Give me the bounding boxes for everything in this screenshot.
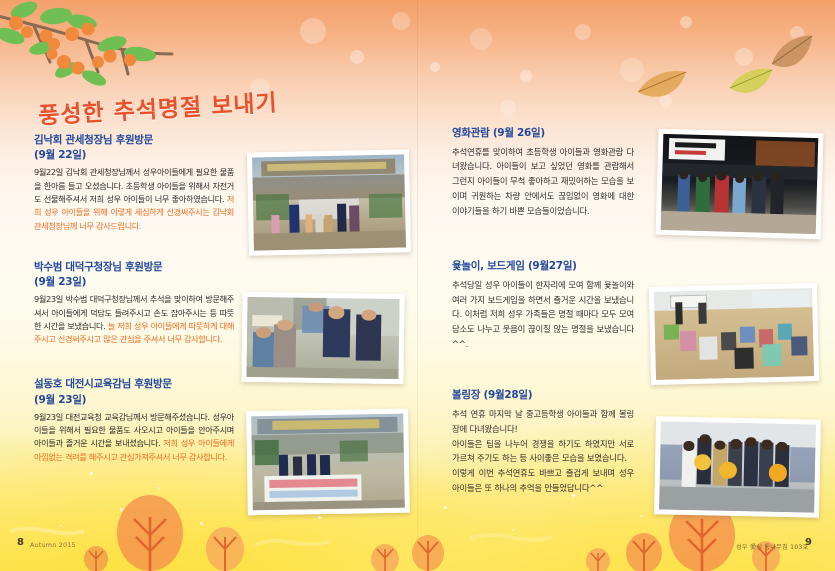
- article-heading: 볼링장 (9월28일): [452, 388, 634, 403]
- article-body: 9월23일 박수범 대덕구청장님께서 추석을 맞이하여 방문해주셔서 아이들에게…: [34, 293, 234, 346]
- photo-gimnakhoe: [247, 149, 411, 255]
- article-heading: 설동호 대전시교육감님 후원방문 (9월 23일): [34, 377, 234, 407]
- left-page-column: 김낙회 관세청장님 후원방문 (9월 22일) 9월22일 김낙회 관세청장님께…: [34, 133, 234, 478]
- footer-note-left: Autumn 2015: [30, 541, 76, 549]
- article-body: 9월23일 대전교육청 교육감님께서 방문해주셨습니다. 성우아이들을 위해서 …: [34, 411, 234, 464]
- article-seol: 설동호 대전시교육감님 후원방문 (9월 23일) 9월23일 대전교육청 교육…: [34, 377, 234, 464]
- article-heading-text: 김낙회 관세청장님 후원방문: [34, 134, 153, 146]
- right-page-column: 영화관람 (9월 26일) 추석연휴를 맞이하여 초등학생 아이들과 영화관람 …: [452, 126, 634, 509]
- article-date: (9월 23일): [34, 275, 234, 290]
- article-date: (9월 22일): [34, 148, 234, 163]
- magazine-spread: 풍성한 추석명절 보내기 김낙회 관세청장님 후원방문 (9월 22일) 9월2…: [0, 0, 835, 571]
- article-heading-text: 볼링장: [452, 389, 480, 401]
- photo-park: [241, 292, 404, 384]
- article-body-plain: 9월22일 김낙회 관세청장님께서 성우아이들에게 필요한 물품을 한아름 들고…: [34, 167, 234, 204]
- footer-note-right: 성우 愛심 통나무집 103호: [736, 542, 808, 551]
- photo-bowling: [654, 416, 821, 517]
- article-heading-text: 영화관람: [452, 127, 489, 139]
- photo-seol: [246, 409, 410, 516]
- article-body: 추석연휴를 맞이하여 초등학생 아이들과 영화관람 다녀왔습니다. 아이들이 보…: [452, 145, 634, 219]
- article-date: (9월28일): [483, 389, 532, 401]
- photo-yut: [649, 283, 819, 385]
- article-date: (9월 26일): [493, 127, 545, 139]
- article-heading: 영화관람 (9월 26일): [452, 126, 634, 141]
- photo-movie: [656, 129, 824, 240]
- article-date: (9월27일): [528, 260, 577, 272]
- falling-leaves-icon: [620, 30, 835, 130]
- article-heading-text: 설동호 대전시교육감님 후원방문: [34, 378, 172, 390]
- page-number-left: 8: [17, 537, 24, 548]
- spread-gutter: [417, 0, 418, 571]
- article-heading: 박수범 대덕구청장님 후원방문 (9월 23일): [34, 260, 234, 290]
- article-movie: 영화관람 (9월 26일) 추석연휴를 맞이하여 초등학생 아이들과 영화관람 …: [452, 126, 634, 218]
- persimmon-branch-icon: [0, 0, 234, 96]
- article-body: 9월22일 김낙회 관세청장님께서 성우아이들에게 필요한 물품을 한아름 들고…: [34, 166, 234, 232]
- article-heading-text: 윷놀이, 보드게임: [452, 260, 525, 272]
- article-body: 추석당일 성우 아이들이 한자리에 모여 함께 윷놀이와 여러 가지 보드게임을…: [452, 278, 634, 352]
- article-date: (9월 23일): [34, 393, 234, 408]
- article-heading-text: 박수범 대덕구청장님 후원방문: [34, 261, 162, 273]
- page-title: 풍성한 추석명절 보내기: [37, 83, 278, 130]
- article-park: 박수범 대덕구청장님 후원방문 (9월 23일) 9월23일 박수범 대덕구청장…: [34, 260, 234, 347]
- article-heading: 윷놀이, 보드게임 (9월27일): [452, 259, 634, 274]
- article-body: 추석 연휴 마지막 날 중고등학생 아이들과 함께 볼링장에 다녀왔습니다! 아…: [452, 407, 634, 495]
- article-yut: 윷놀이, 보드게임 (9월27일) 추석당일 성우 아이들이 한자리에 모여 함…: [452, 259, 634, 351]
- article-bowling: 볼링장 (9월28일) 추석 연휴 마지막 날 중고등학생 아이들과 함께 볼링…: [452, 388, 634, 495]
- article-gimnakhoe: 김낙회 관세청장님 후원방문 (9월 22일) 9월22일 김낙회 관세청장님께…: [34, 133, 234, 233]
- article-heading: 김낙회 관세청장님 후원방문 (9월 22일): [34, 133, 234, 163]
